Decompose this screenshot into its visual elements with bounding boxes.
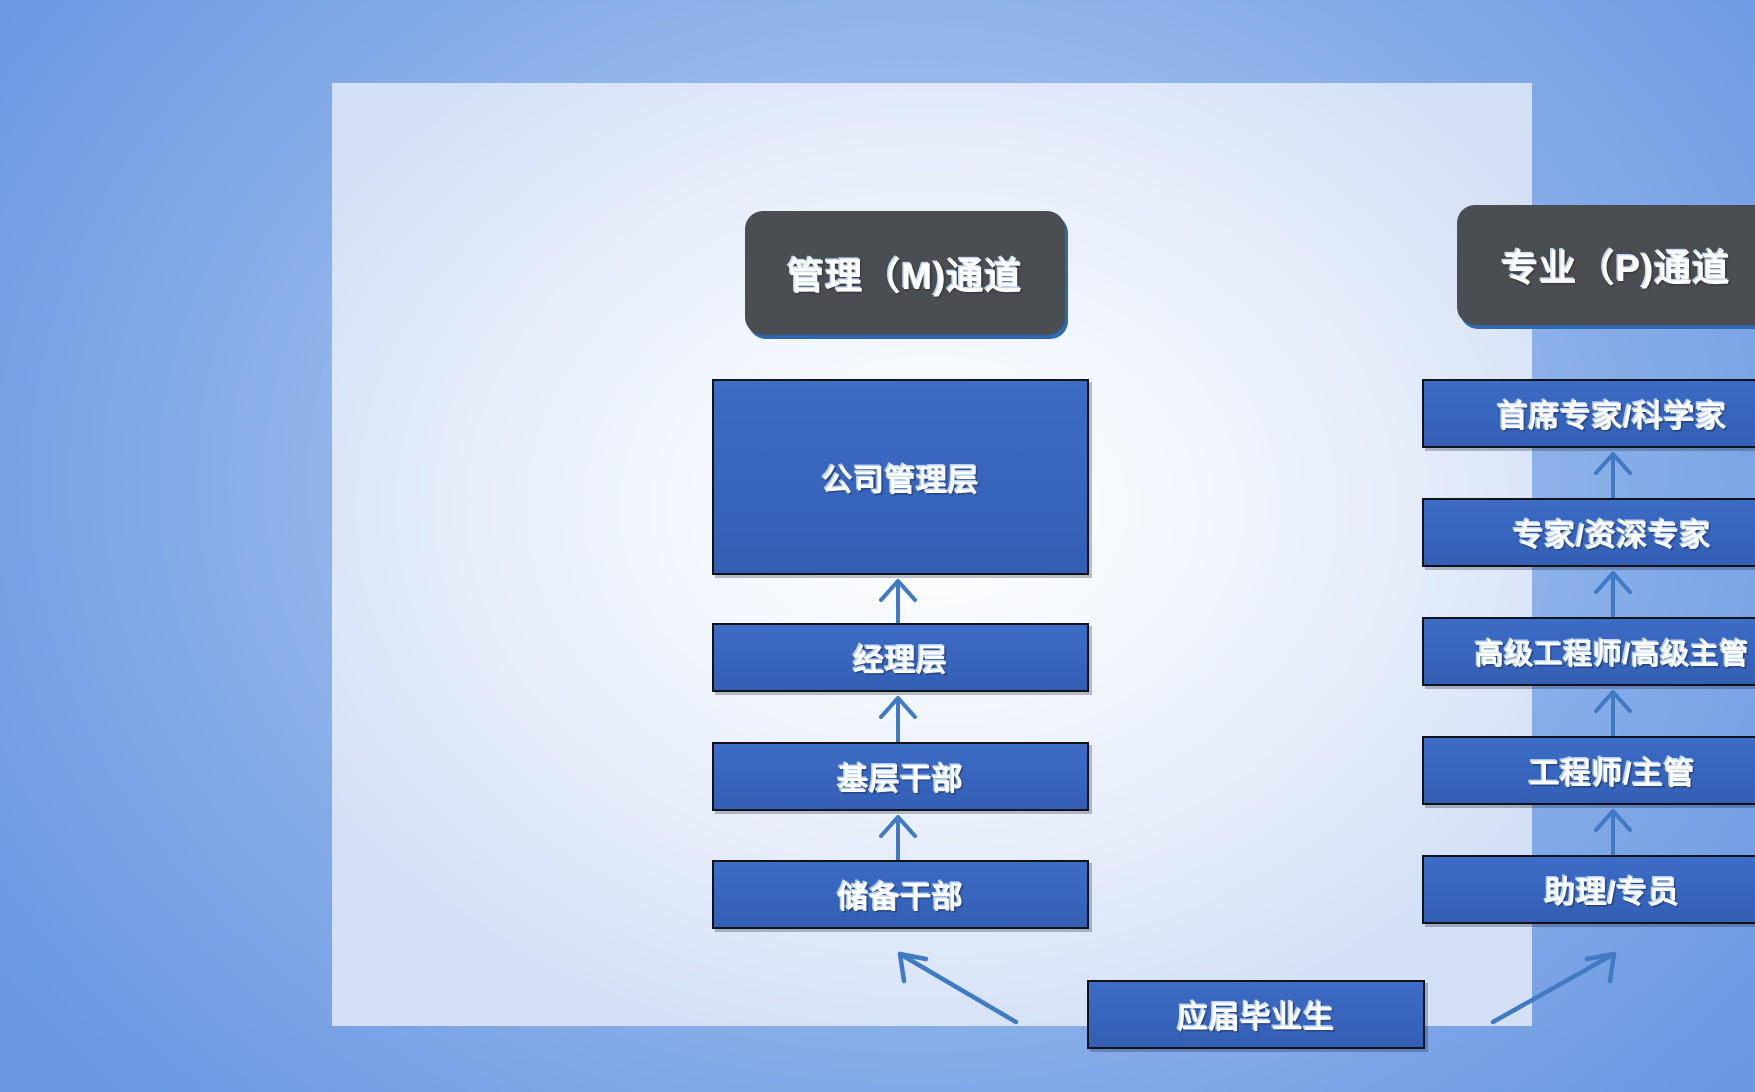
arrow-up-icon: [875, 814, 921, 864]
management-channel-header-label: 管理（M)通道: [787, 246, 1022, 300]
diagram-canvas: 管理（M)通道 专业（P)通道 公司管理层 经理层 基层干部: [0, 0, 1755, 1092]
management-level-box: 基层干部: [712, 742, 1089, 811]
arrow-up-icon: [1590, 689, 1636, 739]
professional-level-label: 工程师/主管: [1529, 748, 1696, 793]
entry-level-label: 应届毕业生: [1177, 992, 1335, 1037]
professional-level-box: 首席专家/科学家: [1422, 379, 1755, 448]
professional-level-label: 助理/专员: [1544, 867, 1679, 912]
professional-channel-header: 专业（P)通道: [1457, 205, 1755, 325]
management-level-label: 经理层: [853, 635, 948, 680]
management-level-label: 储备干部: [838, 872, 964, 917]
management-level-box: 储备干部: [712, 860, 1089, 929]
arrow-up-icon: [1590, 570, 1636, 620]
professional-level-box: 高级工程师/高级主管: [1422, 617, 1755, 686]
arrow-up-icon: [1590, 808, 1636, 858]
professional-level-label: 首席专家/科学家: [1497, 391, 1727, 436]
entry-level-box: 应届毕业生: [1087, 980, 1425, 1049]
professional-level-box: 工程师/主管: [1422, 736, 1755, 805]
professional-level-label: 专家/资深专家: [1513, 510, 1711, 555]
professional-level-label: 高级工程师/高级主管: [1475, 631, 1749, 673]
arrow-up-left-icon: [892, 948, 1022, 1028]
professional-level-box: 助理/专员: [1422, 855, 1755, 924]
professional-channel-header-label: 专业（P)通道: [1502, 238, 1731, 292]
professional-level-box: 专家/资深专家: [1422, 498, 1755, 567]
arrow-up-icon: [875, 695, 921, 745]
management-level-label: 公司管理层: [822, 455, 980, 500]
arrow-up-right-icon: [1487, 948, 1622, 1028]
management-level-label: 基层干部: [838, 754, 964, 799]
management-channel-header: 管理（M)通道: [745, 211, 1065, 335]
arrow-up-icon: [1590, 451, 1636, 501]
diagram-card: 管理（M)通道 专业（P)通道 公司管理层 经理层 基层干部: [332, 83, 1532, 1026]
management-level-box: 公司管理层: [712, 379, 1089, 575]
management-level-box: 经理层: [712, 623, 1089, 692]
arrow-up-icon: [875, 578, 921, 628]
